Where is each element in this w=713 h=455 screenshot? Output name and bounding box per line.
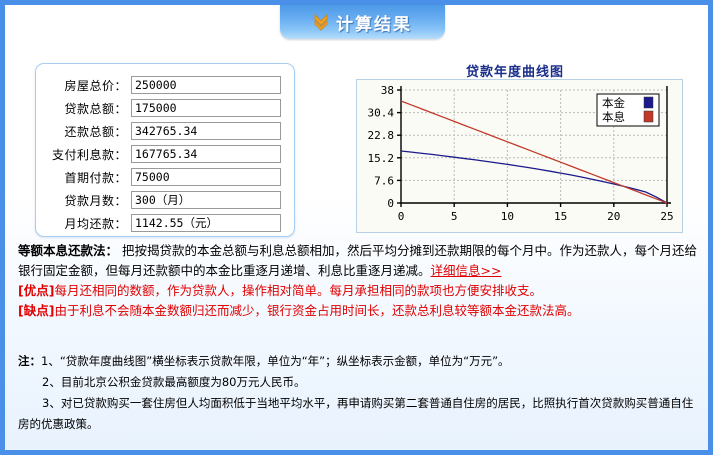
cons-text: 由于利息不会随本金数额归还而减少，银行资金占用时间长，还款总利息较等额本金还款法… [54,303,579,318]
field-row-down-payment: 首期付款： 75000 [42,167,282,187]
value-down-payment[interactable]: 75000 [131,168,281,186]
result-field-table: 房屋总价： 250000 贷款总额： 175000 还款总额： 342765.3… [42,72,282,236]
page-header: 计算结果 [5,5,708,41]
value-monthly-payment[interactable]: 1142.55（元） [131,214,281,232]
svg-text:0: 0 [398,210,405,223]
svg-text:0: 0 [387,197,394,210]
svg-text:本息: 本息 [602,110,625,124]
svg-text:20: 20 [607,210,620,223]
value-total-repayment[interactable]: 342765.34 [131,122,281,140]
explanation-paragraph: 等额本息还款法： 把按揭贷款的本金总额与利息总额相加，然后平均分摊到还款期限的每… [18,241,698,281]
note-text-3: 3、对已贷款购买一套住房但人均面积低于当地平均水平，再申请购买第二套普通自住房的… [18,396,693,431]
value-total-loan-amount[interactable]: 175000 [131,99,281,117]
pros-text: 每月还相同的数额，作为贷款人，操作相对简单。每月承担相同的款项也方便安排收支。 [54,283,542,298]
explanation-block: 等额本息还款法： 把按揭贷款的本金总额与利息总额相加，然后平均分摊到还款期限的每… [18,241,698,321]
svg-text:10: 10 [501,210,514,223]
pros-paragraph: [优点]每月还相同的数额，作为贷款人，操作相对简单。每月承担相同的款项也方便安排… [18,281,698,301]
repayment-method-label: 等额本息还款法： [18,243,118,258]
repayment-method-description: 把按揭贷款的本金总额与利息总额相加，然后平均分摊到还款期限的每个月中。作为还款人… [18,243,697,278]
svg-text:30.4: 30.4 [368,107,395,120]
label-total-repayment: 还款总额： [42,121,130,141]
note-item-1: 注：1、“贷款年度曲线图”横坐标表示贷款年限，单位为“年”；纵坐标表示金额，单位… [18,351,702,372]
note-text-2: 2、目前北京公积金贷款最高额度为80万元人民币。 [42,375,305,389]
svg-text:15: 15 [554,210,567,223]
notes-block: 注：1、“贷款年度曲线图”横坐标表示贷款年限，单位为“年”；纵坐标表示金额，单位… [18,351,702,435]
svg-text:15.2: 15.2 [368,152,395,165]
svg-text:5: 5 [451,210,458,223]
chart-svg: 07.615.222.830.4380510152025本金本息 [357,80,680,230]
svg-text:25: 25 [660,210,673,223]
label-total-interest-paid: 支付利息款： [42,144,130,164]
label-monthly-payment: 月均还款： [42,213,130,233]
detail-link[interactable]: 详细信息>> [431,263,502,278]
value-total-house-price[interactable]: 250000 [131,76,281,94]
field-row-total-loan-amount: 贷款总额： 175000 [42,98,282,118]
svg-text:7.6: 7.6 [374,174,394,187]
note-text-1: 1、“贷款年度曲线图”横坐标表示贷款年限，单位为“年”；纵坐标表示金额，单位为“… [41,354,510,368]
result-summary-panel: 房屋总价： 250000 贷款总额： 175000 还款总额： 342765.3… [35,63,295,237]
result-tab-label: 计算结果 [336,10,412,35]
label-loan-months: 贷款月数： [42,190,130,210]
loan-year-curve-chart: 07.615.222.830.4380510152025本金本息 [356,79,683,233]
field-row-monthly-payment: 月均还款： 1142.55（元） [42,213,282,233]
cons-label: [缺点] [18,303,54,318]
result-tab[interactable]: 计算结果 [280,5,445,39]
chart-title: 贷款年度曲线图 [345,61,685,80]
label-down-payment: 首期付款： [42,167,130,187]
value-loan-months[interactable]: 300（月） [131,191,281,209]
field-row-total-repayment: 还款总额： 342765.34 [42,121,282,141]
field-row-loan-months: 贷款月数： 300（月） [42,190,282,210]
cons-paragraph: [缺点]由于利息不会随本金数额归还而减少，银行资金占用时间长，还款总利息较等额本… [18,301,698,321]
note-item-2: 2、目前北京公积金贷款最高额度为80万元人民币。 [18,372,702,393]
double-chevron-down-icon [313,13,329,31]
calculation-result-page: 计算结果 房屋总价： 250000 贷款总额： 175000 还款总额： 342… [0,0,713,455]
pros-label: [优点] [18,283,54,298]
svg-text:38: 38 [381,84,394,97]
value-total-interest-paid[interactable]: 167765.34 [131,145,281,163]
field-row-total-house-price: 房屋总价： 250000 [42,75,282,95]
svg-text:本金: 本金 [602,96,625,110]
field-row-total-interest-paid: 支付利息款： 167765.34 [42,144,282,164]
svg-text:22.8: 22.8 [368,129,395,142]
note-item-3: 3、对已贷款购买一套住房但人均面积低于当地平均水平，再申请购买第二套普通自住房的… [18,393,702,435]
label-total-house-price: 房屋总价： [42,75,130,95]
notes-label: 注： [18,354,41,368]
label-total-loan-amount: 贷款总额： [42,98,130,118]
